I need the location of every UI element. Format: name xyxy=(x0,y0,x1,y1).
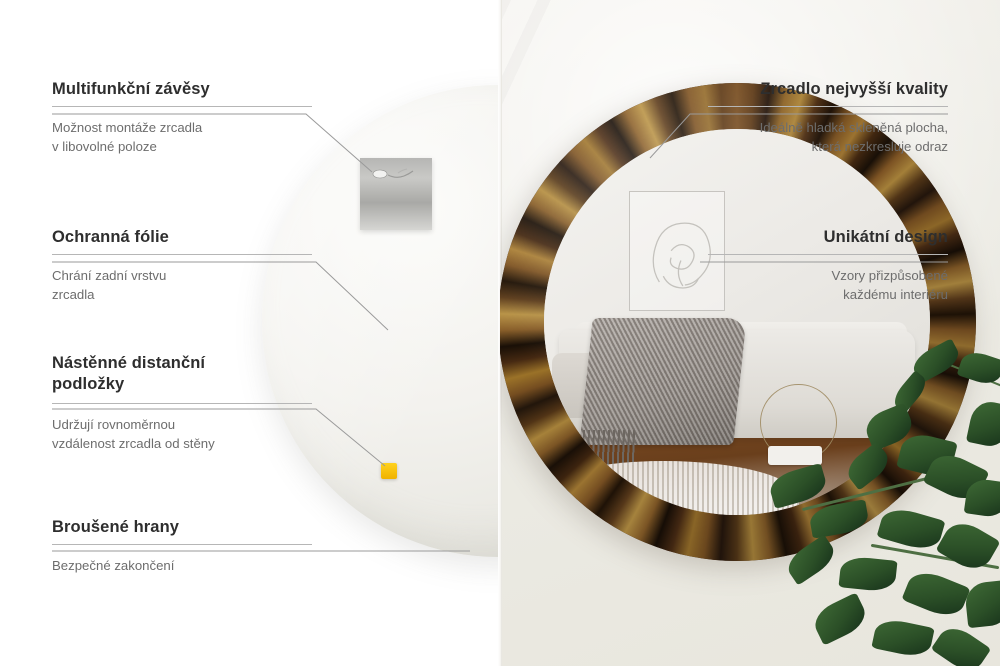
callout-rule xyxy=(52,254,312,255)
callout-description: Ideálně hladká skleněná plocha, která ne… xyxy=(708,118,948,156)
callout-description: Udržují rovnoměrnou vzdálenost zrcadla o… xyxy=(52,415,312,453)
callout-title: Nástěnné distanční podložky xyxy=(52,353,312,396)
callout-title: Ochranná fólie xyxy=(52,228,312,247)
callout-rule xyxy=(52,106,312,107)
callout-rule xyxy=(708,254,948,255)
callout-description: Vzory přizpůsobené každému interiéru xyxy=(708,266,948,304)
callout-ochranna-folie: Ochranná fólie Chrání zadní vrstvu zrcad… xyxy=(52,228,312,304)
callout-description: Možnost montáže zrcadla v libovolné polo… xyxy=(52,118,312,156)
infographic-canvas: Multifunkční závěsy Možnost montáže zrca… xyxy=(0,0,1000,666)
callout-multifunkcni-zavesy: Multifunkční závěsy Možnost montáže zrca… xyxy=(52,80,312,156)
callout-brousene-hrany: Broušené hrany Bezpečné zakončení xyxy=(52,518,312,575)
callout-unikatni-design: Unikátní design Vzory přizpůsobené každé… xyxy=(708,228,948,304)
callout-title: Broušené hrany xyxy=(52,518,312,537)
callout-rule xyxy=(708,106,948,107)
callout-title: Zrcadlo nejvyšší kvality xyxy=(708,80,948,99)
callout-nastenne-distancni-podlozky: Nástěnné distanční podložky Udržují rovn… xyxy=(52,353,312,453)
callout-description: Chrání zadní vrstvu zrcadla xyxy=(52,266,312,304)
callout-description: Bezpečné zakončení xyxy=(52,556,312,575)
callout-title: Multifunkční závěsy xyxy=(52,80,312,99)
callout-rule xyxy=(52,544,312,545)
callout-rule xyxy=(52,403,312,404)
callout-title: Unikátní design xyxy=(708,228,948,247)
callout-zrcadlo-nejvyssi-kvality: Zrcadlo nejvyšší kvality Ideálně hladká … xyxy=(708,80,948,156)
